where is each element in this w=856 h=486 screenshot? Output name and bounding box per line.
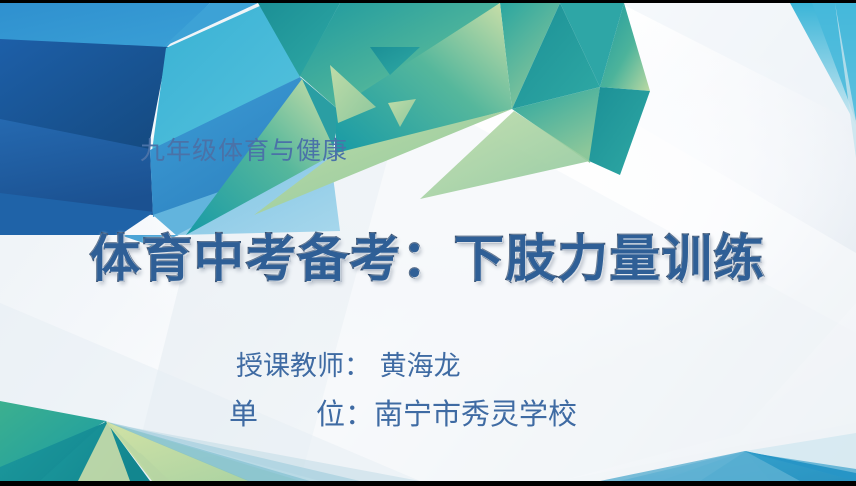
presenter-info: 授课教师： 黄海龙 单 位：南宁市秀灵学校 <box>236 353 577 429</box>
page-title: 体育中考备考：下肢力量训练 <box>0 219 856 291</box>
course-label: 九年级体育与健康 <box>140 131 348 167</box>
letterbox-bottom-bar <box>0 481 856 486</box>
letterbox-top-bar <box>0 0 856 3</box>
slide-canvas: 九年级体育与健康 体育中考备考：下肢力量训练 授课教师： 黄海龙 单 位：南宁市… <box>0 0 856 486</box>
slide-content-area: 九年级体育与健康 体育中考备考：下肢力量训练 授课教师： 黄海龙 单 位：南宁市… <box>0 3 856 481</box>
text-layer: 九年级体育与健康 体育中考备考：下肢力量训练 授课教师： 黄海龙 单 位：南宁市… <box>0 3 856 481</box>
teacher-line: 授课教师： 黄海龙 <box>236 353 577 380</box>
school-line: 单 位：南宁市秀灵学校 <box>229 400 577 429</box>
